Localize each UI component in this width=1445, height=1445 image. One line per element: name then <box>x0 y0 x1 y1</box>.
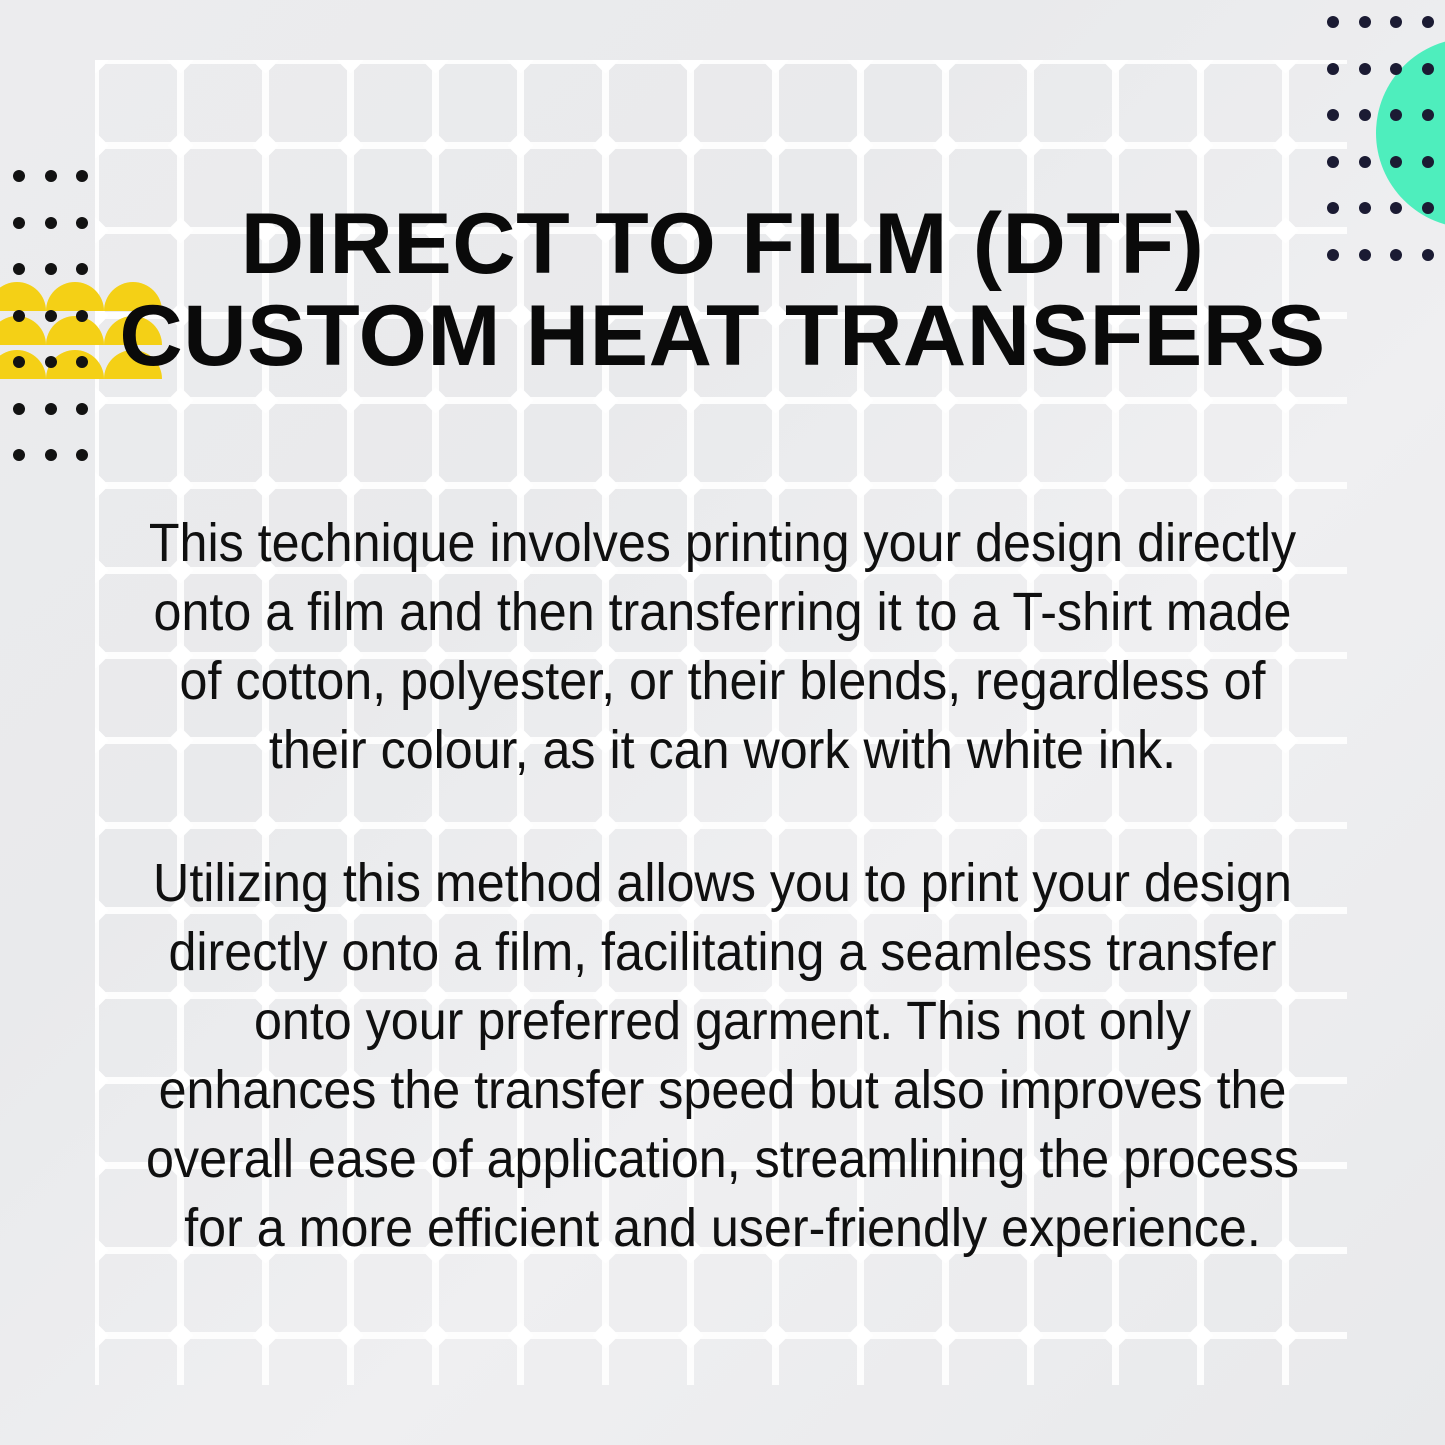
body-paragraph-2: Utilizing this method allows you to prin… <box>139 849 1306 1263</box>
poster-content: DIRECT TO FILM (DTF) CUSTOM HEAT TRANSFE… <box>0 0 1445 1445</box>
body-paragraph-1: This technique involves printing your de… <box>139 509 1306 785</box>
page-title: DIRECT TO FILM (DTF) CUSTOM HEAT TRANSFE… <box>108 198 1337 382</box>
page-title-line-1: DIRECT TO FILM (DTF) <box>108 198 1337 290</box>
poster-canvas: DIRECT TO FILM (DTF) CUSTOM HEAT TRANSFE… <box>0 0 1445 1445</box>
page-title-line-2: CUSTOM HEAT TRANSFERS <box>108 290 1337 382</box>
